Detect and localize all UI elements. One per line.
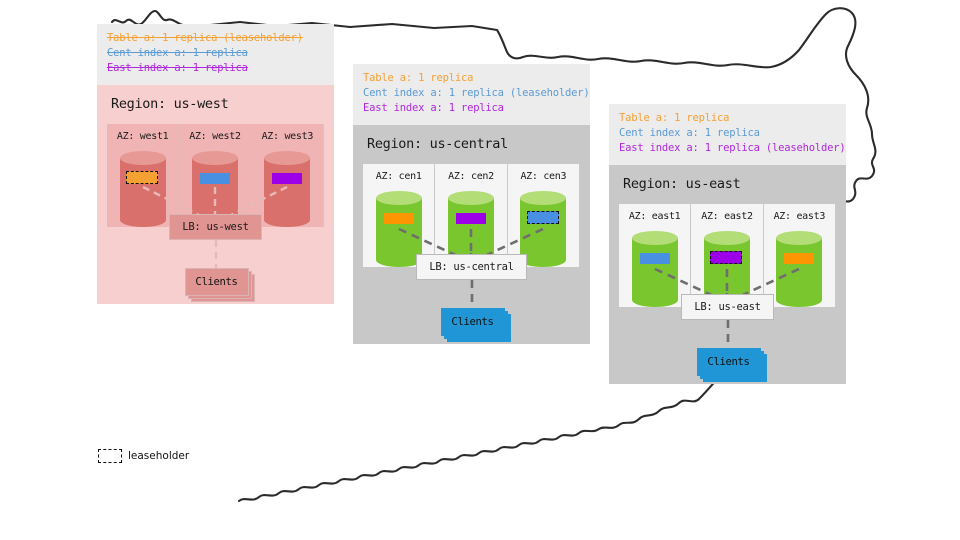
replica-chip-table-a[interactable] (384, 213, 414, 224)
region-us-central-title: Region: us-central (363, 125, 580, 164)
az-cen3-label: AZ: cen3 (508, 171, 579, 182)
lb-us-east[interactable]: LB: us-east (681, 294, 773, 320)
cylinder-top (520, 191, 566, 205)
az-west3[interactable]: AZ: west3 (252, 124, 324, 227)
region-us-east[interactable]: Table a: 1 replica Cent index a: 1 repli… (609, 104, 846, 384)
cylinder-body (376, 198, 422, 260)
az-west1[interactable]: AZ: west1 (107, 124, 179, 227)
lb-us-east-wrap: LB: us-east (619, 294, 836, 320)
summary-line-cent-index-a: Cent index a: 1 replica (107, 46, 324, 61)
az-west2-label: AZ: west2 (179, 131, 250, 142)
summary-line-cent-index-a: Cent index a: 1 replica (leaseholder) (363, 86, 580, 101)
cylinder-body (448, 198, 494, 260)
cylinder-top (448, 191, 494, 205)
az-cen1[interactable]: AZ: cen1 (363, 164, 435, 267)
az-cen1-label: AZ: cen1 (363, 171, 434, 182)
region-us-east-az-panel: AZ: east1 AZ: east2 AZ: east3 (619, 204, 836, 307)
lb-us-central-wrap: LB: us-central (363, 254, 580, 280)
cylinder-body (704, 238, 750, 300)
cylinder-body (192, 158, 238, 220)
clients-label[interactable]: Clients (185, 268, 249, 296)
clients-us-central[interactable]: Clients (441, 308, 503, 334)
az-east3[interactable]: AZ: east3 (764, 204, 836, 307)
region-us-west[interactable]: Table a: 1 replica (leaseholder) Cent in… (97, 24, 334, 304)
replica-chip-cent-index-a[interactable] (640, 253, 670, 264)
lb-us-west-wrap: LB: us-west (107, 214, 324, 240)
stem-svg (211, 240, 221, 268)
cylinder-top (704, 231, 750, 245)
lb-us-central[interactable]: LB: us-central (416, 254, 526, 280)
replica-chip-table-a[interactable] (784, 253, 814, 264)
region-us-west-replica-summary: Table a: 1 replica (leaseholder) Cent in… (97, 24, 334, 85)
region-us-central-body: Region: us-central AZ: cen1 AZ: cen2 (353, 125, 590, 344)
region-us-central[interactable]: Table a: 1 replica Cent index a: 1 repli… (353, 64, 590, 344)
az-east1[interactable]: AZ: east1 (619, 204, 691, 307)
az-east2[interactable]: AZ: east2 (691, 204, 763, 307)
lb-to-clients-stem-west (107, 240, 324, 268)
az-east3-label: AZ: east3 (764, 211, 835, 222)
az-cen2[interactable]: AZ: cen2 (435, 164, 507, 267)
clients-us-central-wrap: Clients (363, 308, 580, 334)
cylinder-top (264, 151, 310, 165)
region-us-west-az-panel: AZ: west1 AZ: west2 AZ: west3 (107, 124, 324, 227)
az-east1-label: AZ: east1 (619, 211, 690, 222)
cylinder-body (120, 158, 166, 220)
replica-chip-table-a-leaseholder[interactable] (126, 171, 158, 184)
az-west1-label: AZ: west1 (107, 131, 178, 142)
replica-chip-east-index-a[interactable] (272, 173, 302, 184)
region-us-east-replica-summary: Table a: 1 replica Cent index a: 1 repli… (609, 104, 846, 165)
dashed-box-icon (98, 449, 122, 463)
region-us-east-title: Region: us-east (619, 165, 836, 204)
replica-chip-cent-index-a[interactable] (200, 173, 230, 184)
lb-to-clients-stem-central (363, 280, 580, 308)
summary-line-east-index-a: East index a: 1 replica (leaseholder) (619, 141, 836, 156)
cylinder-top (776, 231, 822, 245)
replica-chip-cent-index-a-leaseholder[interactable] (527, 211, 559, 224)
summary-line-table-a: Table a: 1 replica (619, 111, 836, 126)
az-east2-label: AZ: east2 (691, 211, 762, 222)
lb-us-west[interactable]: LB: us-west (169, 214, 261, 240)
clients-us-west-wrap: Clients (107, 268, 324, 294)
cylinder-top (120, 151, 166, 165)
cylinder-body (776, 238, 822, 300)
replica-chip-east-index-a[interactable] (456, 213, 486, 224)
stem-svg (723, 320, 733, 348)
az-cen3[interactable]: AZ: cen3 (508, 164, 580, 267)
clients-us-east-wrap: Clients (619, 348, 836, 374)
cylinder-top (192, 151, 238, 165)
az-west2[interactable]: AZ: west2 (179, 124, 251, 227)
region-us-east-body: Region: us-east AZ: east1 AZ: east2 (609, 165, 846, 384)
cylinder-body (632, 238, 678, 300)
clients-label[interactable]: Clients (441, 308, 505, 336)
lb-to-clients-stem-east (619, 320, 836, 348)
summary-line-east-index-a: East index a: 1 replica (107, 61, 324, 76)
summary-line-cent-index-a: Cent index a: 1 replica (619, 126, 836, 141)
replica-chip-east-index-a-leaseholder[interactable] (710, 251, 742, 264)
region-us-west-title: Region: us-west (107, 85, 324, 124)
summary-line-table-a: Table a: 1 replica (363, 71, 580, 86)
legend: leaseholder (98, 449, 189, 463)
clients-us-east[interactable]: Clients (697, 348, 759, 374)
cylinder-top (376, 191, 422, 205)
summary-line-east-index-a: East index a: 1 replica (363, 101, 580, 116)
summary-line-table-a: Table a: 1 replica (leaseholder) (107, 31, 324, 46)
az-cen2-label: AZ: cen2 (435, 171, 506, 182)
region-us-central-az-panel: AZ: cen1 AZ: cen2 AZ: cen3 (363, 164, 580, 267)
clients-us-west[interactable]: Clients (185, 268, 247, 294)
az-west3-label: AZ: west3 (252, 131, 323, 142)
cylinder-body (520, 198, 566, 260)
legend-label: leaseholder (128, 450, 189, 462)
cylinder-top (632, 231, 678, 245)
region-us-west-body: Region: us-west AZ: west1 AZ: west2 (97, 85, 334, 304)
clients-label[interactable]: Clients (697, 348, 761, 376)
cylinder-body (264, 158, 310, 220)
region-us-central-replica-summary: Table a: 1 replica Cent index a: 1 repli… (353, 64, 590, 125)
stem-svg (467, 280, 477, 308)
